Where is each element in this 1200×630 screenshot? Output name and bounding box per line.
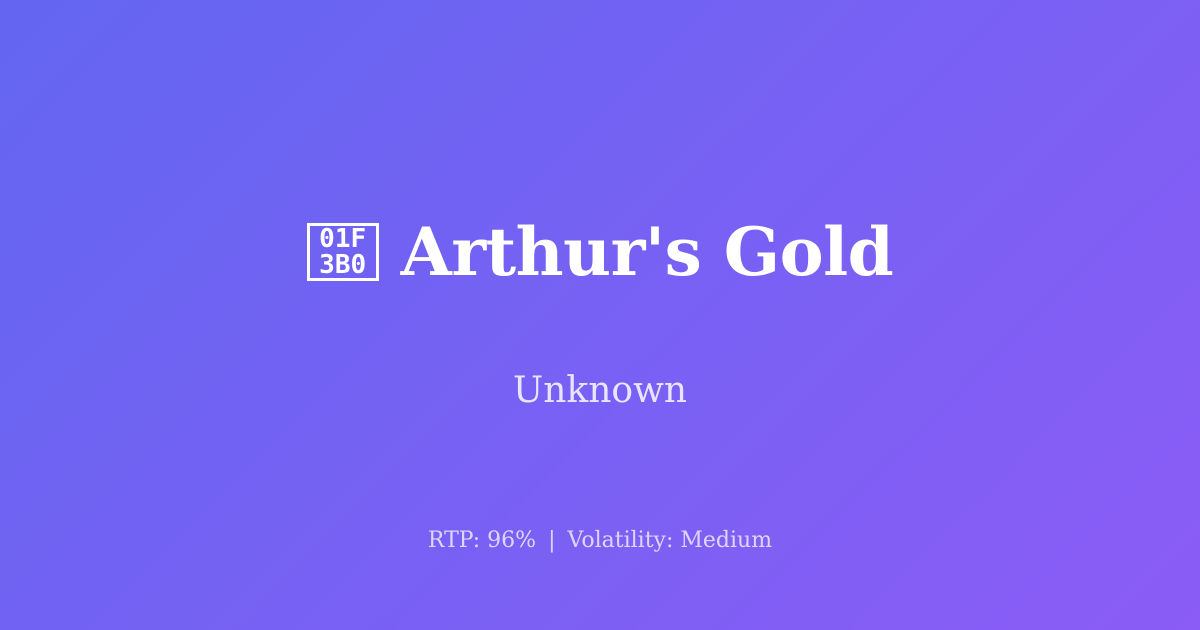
game-meta-line: RTP: 96% | Volatility: Medium [0,528,1200,554]
game-provider: Unknown [513,371,687,411]
hero-block: 01F 3B0 Arthur's Gold Unknown [307,173,894,410]
title-row: 01F 3B0 Arthur's Gold [307,173,894,331]
slot-machine-icon: 01F 3B0 [307,223,379,281]
codepoint-row-top: 01F [319,226,366,252]
rtp-value: RTP: 96% [428,528,536,553]
meta-separator: | [543,528,560,553]
game-preview-card: 01F 3B0 Arthur's Gold Unknown RTP: 96% |… [0,0,1200,630]
volatility-value: Volatility: Medium [568,528,773,553]
game-title: Arthur's Gold [401,218,894,287]
codepoint-row-bottom: 3B0 [319,252,366,278]
